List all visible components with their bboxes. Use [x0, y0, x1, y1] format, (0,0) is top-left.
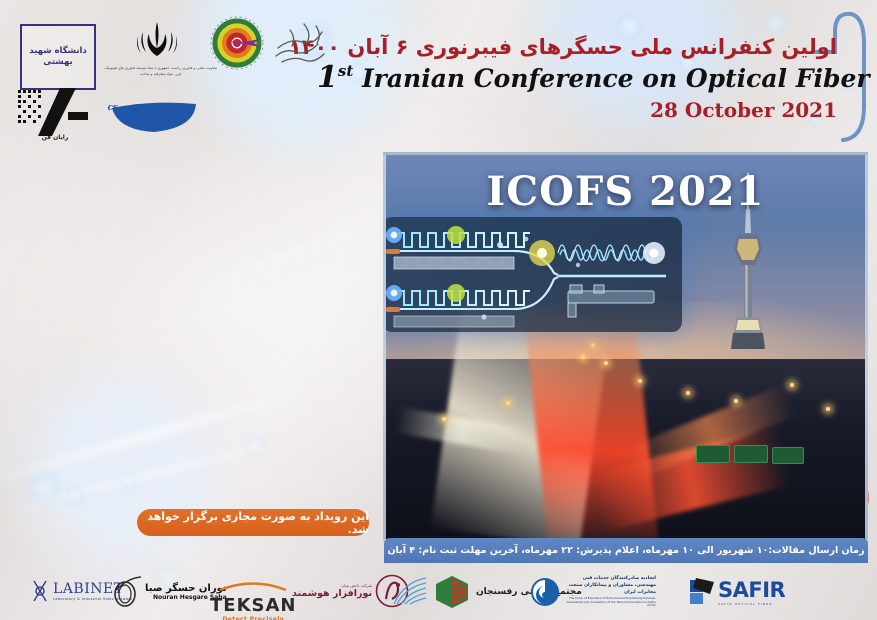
teksan-name: TEKSAN	[210, 595, 296, 616]
bokeh-decoration	[240, 430, 270, 460]
street-lamp	[734, 399, 738, 403]
ettehadie-mark-icon	[530, 577, 560, 607]
ettehadie-name-fa: اتحادیه صادرکنندگان خدمات فنی مهندسی، مش…	[564, 576, 656, 597]
deadline-date-bar: زمان ارسال مقالات:۱۰ شهریور الی ۱۰ مهرما…	[384, 538, 868, 563]
light-streak-decoration	[0, 381, 324, 490]
teksan-arc-icon	[218, 581, 288, 591]
highway-sign	[696, 445, 730, 463]
bokeh-decoration	[24, 468, 64, 508]
conference-title-fa: اولین کنفرانس ملی حسگرهای فیبرنوری ۶ آبا…	[317, 36, 837, 59]
poster-header: اولین کنفرانس ملی حسگرهای فیبرنوری ۶ آبا…	[0, 0, 877, 150]
light-streak-decoration	[187, 209, 394, 299]
conference-poster: اولین کنفرانس ملی حسگرهای فیبرنوری ۶ آبا…	[0, 0, 877, 620]
ettehadie-name-en: The Union of Exporters of Technical and …	[564, 597, 656, 609]
conference-title-en: 1st Iranian Conference on Optical Fiber …	[317, 62, 837, 94]
safir-sub: SAFIR OPTICAL FIBER	[718, 602, 785, 606]
deadline-date-text: زمان ارسال مقالات:۱۰ شهریور الی ۱۰ مهرما…	[387, 545, 864, 556]
highway-sign	[772, 447, 804, 464]
sbu-logo-label: دانشگاه شهید بهشتی	[22, 46, 94, 67]
bokeh-decoration	[62, 484, 88, 510]
kish-mechatronics-logo: Kish Mechatronics	[108, 94, 200, 134]
header-title-block: اولین کنفرانس ملی حسگرهای فیبرنوری ۶ آبا…	[317, 36, 837, 122]
safir-name: SAFIR	[718, 578, 785, 602]
virtual-event-label: این رویداد به صورت مجازی برگزار خواهد شد…	[137, 510, 369, 536]
noorafza-name-fa: نورافزار هوشمند	[292, 588, 372, 599]
sponsor-ettehadie: اتحادیه صادرکنندگان خدمات فنی مهندسی، مش…	[530, 576, 656, 608]
street-lamp	[638, 379, 642, 383]
saba-mark-icon	[392, 576, 428, 608]
bokeh-decoration	[118, 472, 138, 492]
street-lamp	[581, 355, 585, 359]
iran-emblem-icon	[128, 18, 186, 66]
sponsor-teksan: TEKSAN Detect Precisely	[210, 576, 296, 620]
photo-overlay-title: ICOFS 2021	[386, 168, 865, 215]
teksan-sub: Detect Precisely	[210, 616, 296, 620]
opsi-logo	[208, 12, 266, 70]
majtame-mark-icon	[432, 574, 472, 610]
street-lamp	[826, 407, 830, 411]
iran-emblem-caption: معاونت علمی و فناوری ریاست جمهوری / ستاد…	[103, 66, 218, 78]
street-lamp	[686, 391, 690, 395]
organizer-logos: دانشگاه شهید بهشتی معاونت علمی و فناوری …	[8, 6, 338, 140]
safir-mark-icon	[690, 578, 716, 606]
sponsor-safir: SAFIR SAFIR OPTICAL FIBER	[690, 578, 785, 606]
labinet-mark-icon	[30, 578, 50, 604]
svg-text:Kish Mechatronics: Kish Mechatronics	[108, 103, 118, 113]
rayanfan-logo	[16, 88, 94, 136]
sbu-logo: دانشگاه شهید بهشتی	[20, 24, 96, 90]
conference-date-en: 28 October 2021	[317, 98, 837, 122]
virtual-event-badge: این رویداد به صورت مجازی برگزار خواهد شد…	[137, 509, 369, 536]
nouran-mark-icon	[112, 576, 142, 608]
sponsor-logos: LABINET Laboratory & Industrial Sales Ne…	[0, 566, 877, 620]
light-streak-decoration	[0, 430, 316, 517]
highway-sign	[734, 445, 768, 463]
street-lamp	[790, 383, 794, 387]
sponsor-saba	[392, 576, 428, 608]
conference-photo: ICOFS 2021	[383, 152, 868, 542]
street-lamp	[506, 401, 510, 405]
street-lamp	[604, 361, 608, 365]
rayanfan-logo-label: رایان فن	[16, 134, 94, 141]
fiber-optic-chip-graphic	[383, 217, 682, 332]
conference-title-en-text: Iranian Conference on Optical Fiber Sens…	[362, 64, 877, 93]
street-lamp	[442, 417, 446, 421]
street-lamp	[591, 343, 595, 347]
anjoman-logo	[270, 16, 332, 68]
